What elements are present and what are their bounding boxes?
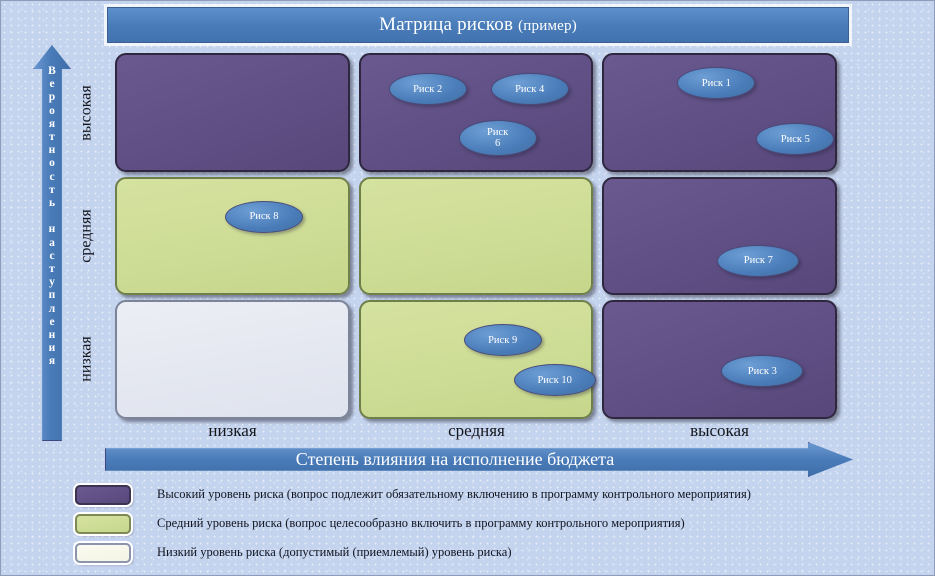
y-axis-label-letter: а <box>49 237 55 250</box>
legend-label: Низкий уровень риска (допустимый (приемл… <box>157 545 512 560</box>
x-axis-tick-medium-text: средняя <box>448 421 505 441</box>
legend-item: Средний уровень риска (вопрос целесообра… <box>75 511 875 536</box>
y-axis-label-letter: В <box>48 65 56 78</box>
matrix-cell-high[interactable]: Риск 3 <box>602 300 837 419</box>
y-axis-label-letter: р <box>49 91 55 104</box>
y-axis-label-letter: и <box>49 342 56 355</box>
risk-bubble[interactable]: Риск 1 <box>677 67 755 99</box>
page-title-bar: Матрица рисков (пример) <box>107 7 849 43</box>
y-axis-label-letter: е <box>49 316 54 329</box>
legend-item: Высокий уровень риска (вопрос подлежит о… <box>75 482 875 507</box>
legend-label: Высокий уровень риска (вопрос подлежит о… <box>157 487 751 502</box>
risk-bubble[interactable]: Риск 5 <box>756 123 834 155</box>
y-axis-label-letter: н <box>49 223 56 236</box>
x-axis-tick-high: высокая <box>602 420 837 442</box>
x-axis-tick-high-text: высокая <box>690 421 749 441</box>
y-axis-label-letter: л <box>49 303 55 316</box>
y-axis-label-letter: п <box>49 289 56 302</box>
risk-matrix-grid: Риск 2Риск 4Риск 6Риск 1Риск 5Риск 8Риск… <box>115 53 837 419</box>
risk-bubble[interactable]: Риск 4 <box>491 73 569 105</box>
matrix-cell-medium[interactable]: Риск 9Риск 10 <box>359 300 594 419</box>
risk-bubble[interactable]: Риск 2 <box>389 73 467 105</box>
risk-bubble[interactable]: Риск 10 <box>514 364 596 396</box>
matrix-cell-medium[interactable]: Риск 8 <box>115 177 350 296</box>
x-axis-tick-low-text: низкая <box>208 421 256 441</box>
y-axis-label-letter: т <box>49 184 55 197</box>
matrix-cell-high[interactable] <box>115 53 350 172</box>
y-axis-tick-low-text: низкая <box>78 336 96 381</box>
page-title-main: Матрица рисков <box>379 14 513 35</box>
risk-bubble[interactable]: Риск 8 <box>225 201 303 233</box>
risk-bubble[interactable]: Риск 7 <box>717 245 799 277</box>
y-axis-tick-high: высокая <box>73 53 101 173</box>
legend-swatch-low <box>75 543 131 563</box>
y-axis-label-letter <box>51 210 54 223</box>
legend-item: Низкий уровень риска (допустимый (приемл… <box>75 540 875 565</box>
y-axis-tick-high-text: высокая <box>78 85 96 140</box>
legend-swatch-medium <box>75 514 131 534</box>
y-axis-label-letter: я <box>49 118 55 131</box>
y-axis-arrow-up-icon: Вероятность наступления <box>33 45 71 441</box>
y-axis-label-letter: т <box>49 263 55 276</box>
y-axis-label-letter: о <box>49 157 55 170</box>
matrix-cell-high[interactable]: Риск 2Риск 4Риск 6 <box>359 53 594 172</box>
y-axis-tick-medium: средняя <box>73 176 101 296</box>
page-title: Матрица рисков (пример) <box>379 14 577 36</box>
matrix-cell-medium[interactable] <box>359 177 594 296</box>
y-axis-tick-low: низкая <box>73 299 101 419</box>
y-axis-label-letter: у <box>49 276 55 289</box>
x-axis-arrow-right-icon: Степень влияния на исполнение бюджета <box>105 442 853 477</box>
matrix-cell-low[interactable] <box>115 300 350 419</box>
legend: Высокий уровень риска (вопрос подлежит о… <box>75 482 875 569</box>
risk-bubble[interactable]: Риск 9 <box>464 324 542 356</box>
page-title-note: (пример) <box>518 18 577 34</box>
x-axis-label: Степень влияния на исполнение бюджета <box>105 442 805 477</box>
y-axis-label-letter: е <box>49 78 54 91</box>
risk-bubble[interactable]: Риск 6 <box>459 120 537 156</box>
legend-label: Средний уровень риска (вопрос целесообра… <box>157 516 685 531</box>
y-axis-label: Вероятность наступления <box>33 65 71 435</box>
y-axis-label-letter: о <box>49 105 55 118</box>
risk-matrix-page: Матрица рисков (пример) Вероятность наст… <box>0 0 935 576</box>
y-axis-tick-medium-text: средняя <box>78 209 96 262</box>
y-axis-label-letter: т <box>49 131 55 144</box>
matrix-cell-high[interactable]: Риск 1Риск 5 <box>602 53 837 172</box>
y-axis-label-letter: ь <box>49 197 55 210</box>
x-axis-tick-low: низкая <box>115 420 350 442</box>
y-axis-label-letter: н <box>49 144 56 157</box>
y-axis-label-letter: н <box>49 329 56 342</box>
y-axis-label-letter: я <box>49 355 55 368</box>
y-axis-label-letter: с <box>49 250 54 263</box>
x-axis-tick-medium: средняя <box>359 420 594 442</box>
risk-bubble[interactable]: Риск 3 <box>721 355 803 387</box>
matrix-cell-high[interactable]: Риск 7 <box>602 177 837 296</box>
legend-swatch-high <box>75 485 131 505</box>
y-axis-label-letter: с <box>49 171 54 184</box>
